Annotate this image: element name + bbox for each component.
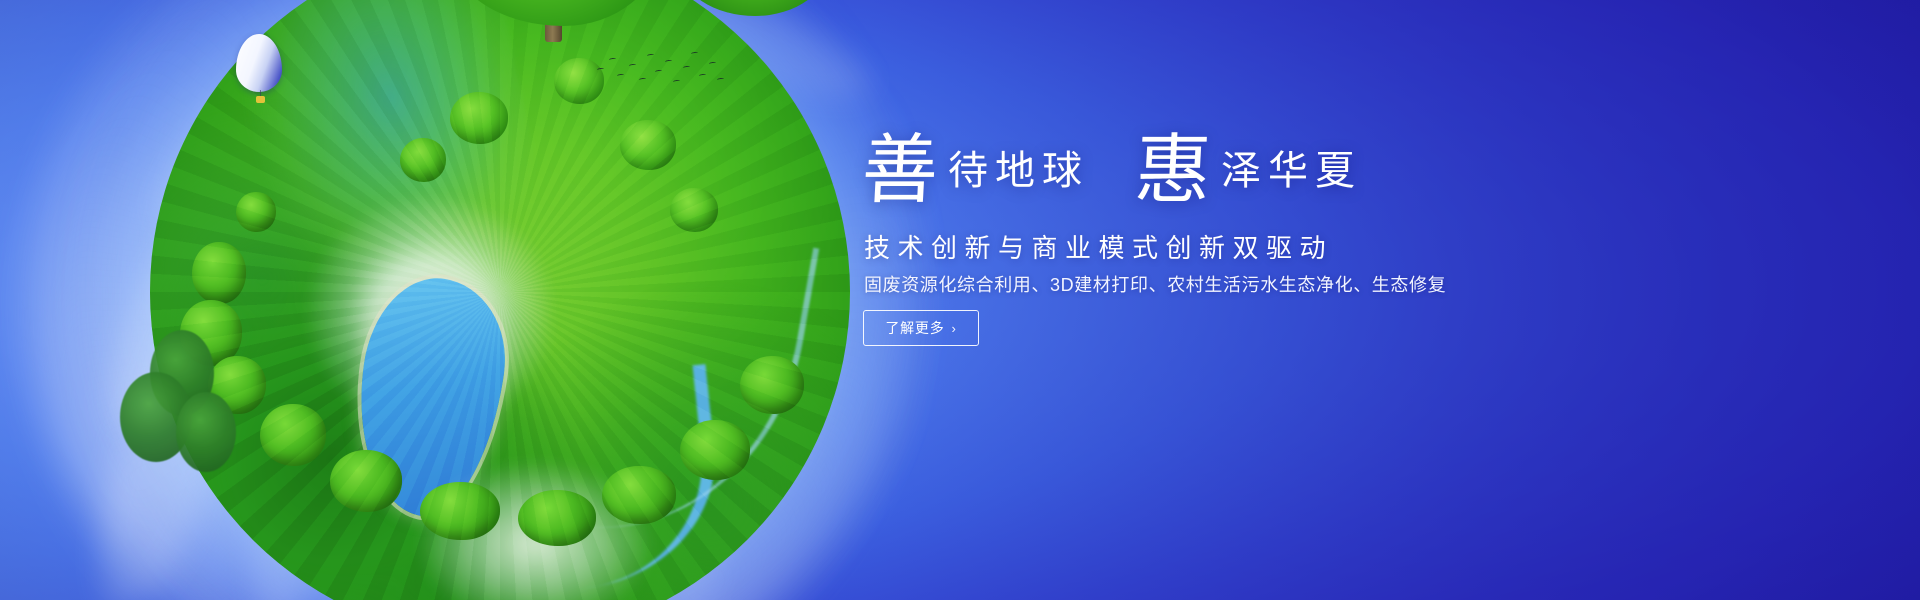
headline-group-2: 惠 泽华夏 [1135, 128, 1362, 200]
headline-small-text-2: 泽华夏 [1211, 151, 1362, 200]
headline-small-text-1: 待地球 [938, 151, 1089, 200]
chevron-right-icon: › [952, 321, 957, 336]
learn-more-button[interactable]: 了解更多 › [863, 310, 979, 346]
headline-big-char-2: 惠 [1133, 134, 1213, 206]
subtitle: 技术创新与商业模式创新双驱动 [864, 228, 1333, 265]
learn-more-label: 了解更多 [885, 318, 944, 338]
headline-group-1: 善 待地球 [862, 128, 1089, 200]
headline: 善 待地球 惠 泽华夏 [862, 128, 1362, 200]
banner-content: 善 待地球 惠 泽华夏 技术创新与商业模式创新双驱动 固废资源化综合利用、3D建… [862, 0, 1862, 600]
description-text: 固废资源化综合利用、3D建材打印、农村生活污水生态净化、生态修复 [864, 271, 1446, 297]
hero-banner: 善 待地球 惠 泽华夏 技术创新与商业模式创新双驱动 固废资源化综合利用、3D建… [0, 0, 1920, 600]
headline-big-char-1: 善 [860, 134, 940, 206]
